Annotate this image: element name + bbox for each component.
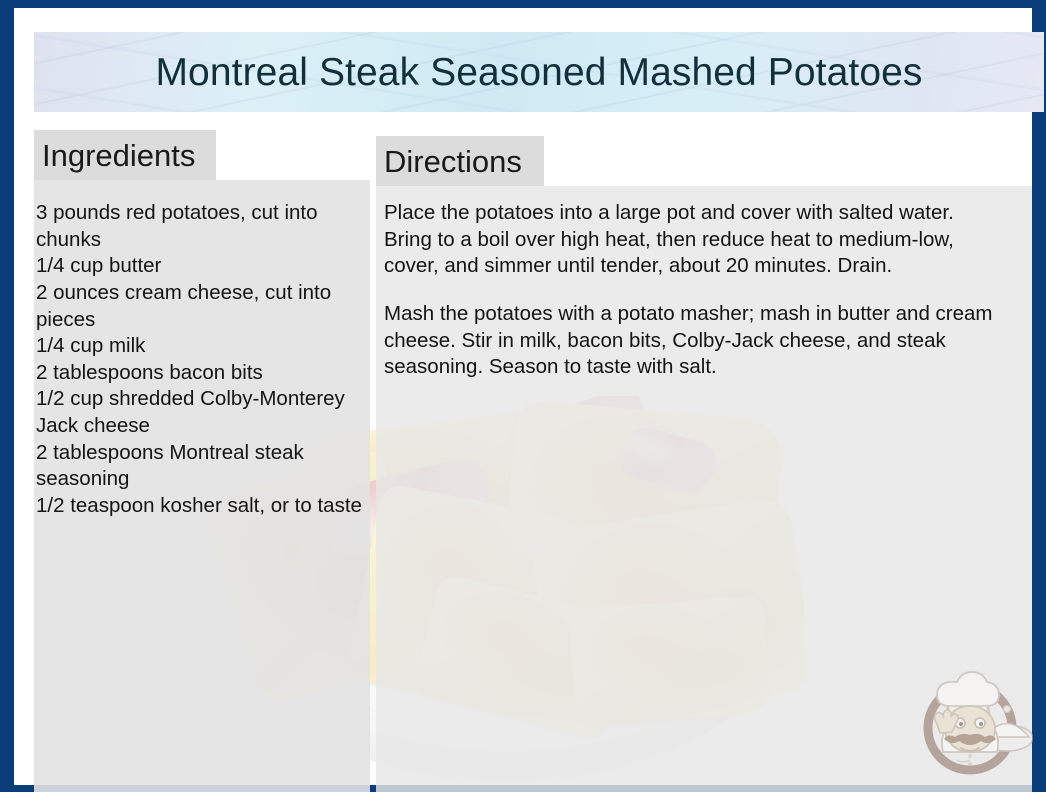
ingredient-item: 1/2 cup shredded Colby-Monterey Jack che…: [36, 386, 368, 439]
ingredients-heading: Ingredients: [42, 140, 195, 171]
ingredient-item: 1/4 cup butter: [36, 253, 368, 280]
directions-heading: Directions: [384, 146, 522, 177]
ingredient-item: 2 tablespoons bacon bits: [36, 360, 368, 387]
recipe-card: Montreal Steak Seasoned Mashed Potatoes …: [0, 0, 1046, 792]
ingredient-item: 2 tablespoons Montreal steak seasoning: [36, 440, 368, 493]
directions-text: Place the potatoes into a large pot and …: [384, 200, 1004, 381]
ingredients-header-tab: Ingredients: [34, 130, 216, 180]
direction-step: Mash the potatoes with a potato masher; …: [384, 301, 1004, 381]
ingredients-list: 3 pounds red potatoes, cut into chunks 1…: [36, 200, 368, 520]
direction-step: Place the potatoes into a large pot and …: [384, 200, 1004, 280]
ingredient-item: 1/2 teaspoon kosher salt, or to taste: [36, 493, 368, 520]
page-title: Montreal Steak Seasoned Mashed Potatoes: [155, 53, 922, 92]
directions-header-tab: Directions: [376, 136, 544, 186]
ingredient-item: 3 pounds red potatoes, cut into chunks: [36, 200, 368, 253]
card-inner-surface: Montreal Steak Seasoned Mashed Potatoes …: [14, 8, 1032, 785]
ingredient-item: 2 ounces cream cheese, cut into pieces: [36, 280, 368, 333]
chef-logo-icon: [907, 656, 1033, 782]
title-banner: Montreal Steak Seasoned Mashed Potatoes: [34, 32, 1044, 112]
ingredient-item: 1/4 cup milk: [36, 333, 368, 360]
